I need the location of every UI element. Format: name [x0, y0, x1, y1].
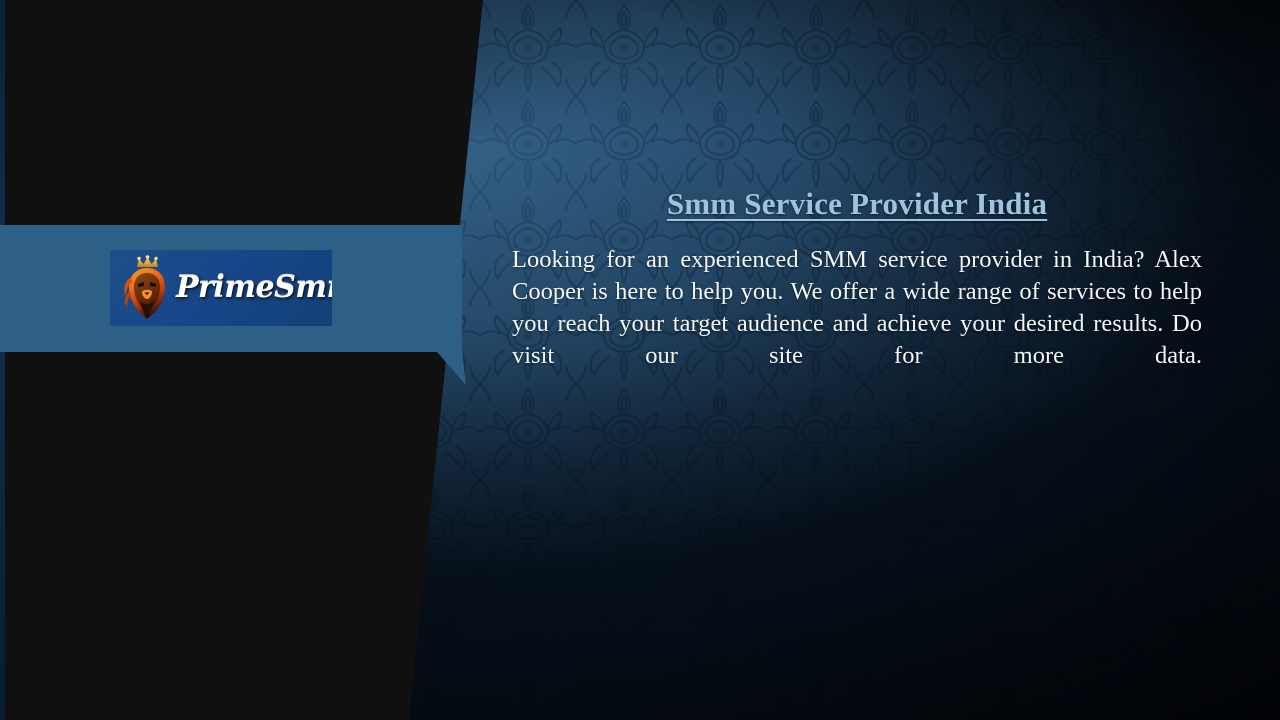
- presentation-slide: PrimeSmm Smm Service Provider India Look…: [0, 0, 1280, 720]
- left-edge-accent-strip: [0, 0, 5, 720]
- page-title[interactable]: Smm Service Provider India: [512, 186, 1202, 222]
- crowned-lion-head-icon: [118, 255, 174, 321]
- logo-wordmark: PrimeSmm: [176, 269, 332, 308]
- logo[interactable]: PrimeSmm: [110, 250, 332, 326]
- slide-content: Smm Service Provider India Looking for a…: [512, 186, 1202, 404]
- body-paragraph: Looking for an experienced SMM service p…: [512, 244, 1202, 404]
